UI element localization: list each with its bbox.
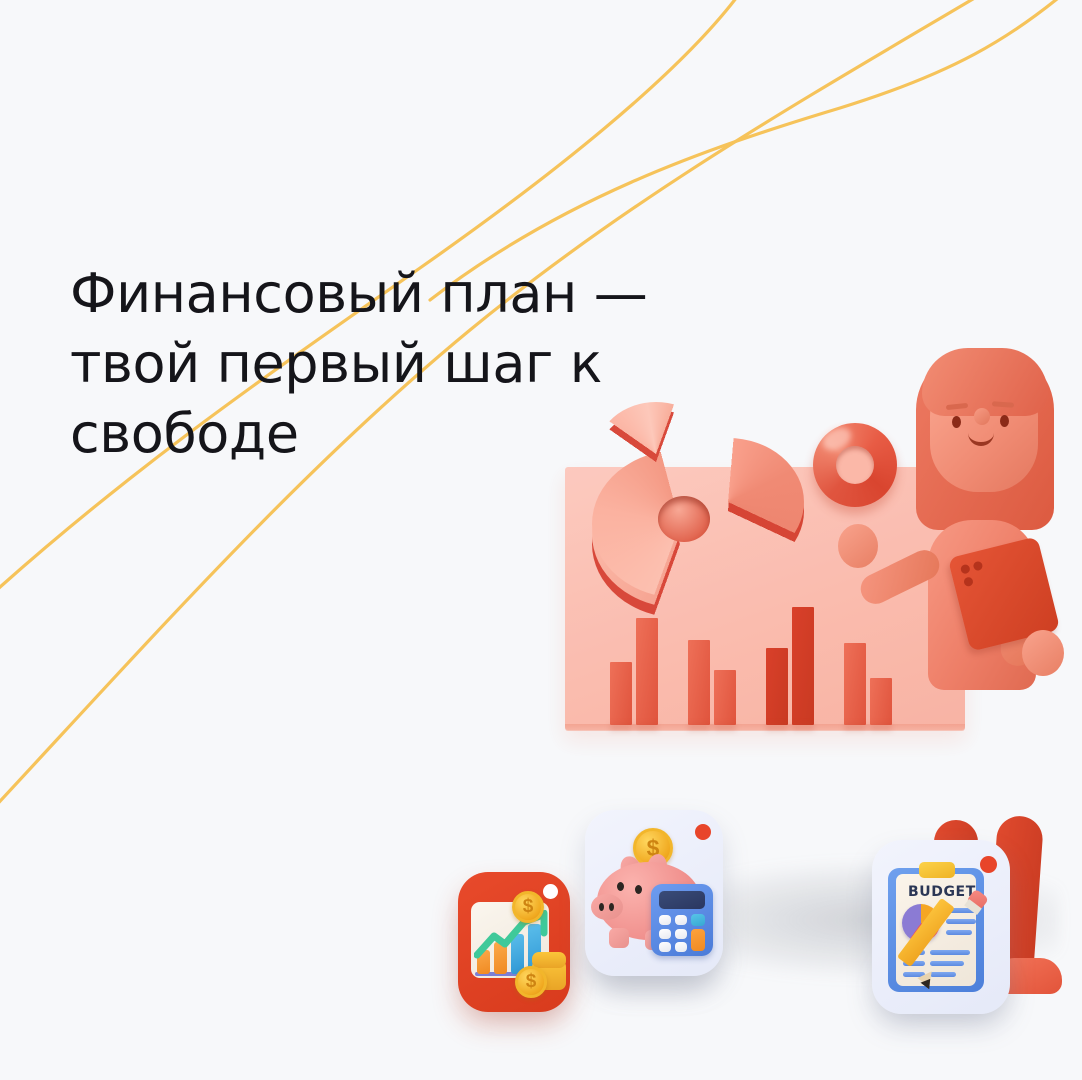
bar-8	[870, 678, 892, 725]
eye-right	[1000, 415, 1009, 427]
bar-2	[636, 618, 658, 725]
tablet-camera-3	[963, 576, 974, 587]
hand-left	[838, 524, 878, 568]
coin-symbol-1: $	[515, 894, 541, 920]
calculator-display	[659, 891, 705, 909]
poster-canvas: Финансовый план — твой первый шаг к своб…	[0, 0, 1082, 1080]
piggy-eye-right	[635, 885, 642, 894]
tablet-camera-1	[960, 564, 971, 575]
piggy-leg-1	[609, 928, 629, 948]
pie-center-hole	[658, 496, 710, 542]
bar-6	[792, 607, 814, 725]
hero-illustration: $ $ $	[0, 0, 1082, 1080]
text-line-2	[946, 919, 976, 924]
calc-key-3	[659, 929, 671, 939]
text-line-3	[946, 930, 972, 935]
hand-right	[1022, 630, 1064, 676]
bar-7	[844, 643, 866, 725]
eye-left	[952, 416, 961, 428]
budget-clipboard-icon-card[interactable]: BUDGET	[872, 840, 1010, 1014]
bar-1	[610, 662, 632, 725]
bar-chart-3d	[610, 600, 900, 725]
gold-coin-top: $	[512, 891, 544, 923]
piggy-nostril-2	[609, 903, 614, 911]
calc-key-4	[675, 929, 687, 939]
calc-key-6	[675, 942, 687, 952]
piggy-eye-left	[617, 882, 624, 891]
calculator-icon	[651, 884, 713, 956]
bar-5	[766, 648, 788, 725]
calc-key-1	[659, 915, 671, 925]
card-badge-dot	[695, 824, 711, 840]
calc-key-orange	[691, 929, 705, 951]
coin-stack-2	[532, 952, 566, 968]
bar-4	[714, 670, 736, 725]
bar-3	[688, 640, 710, 725]
hair-fringe	[922, 348, 1048, 416]
card-badge-dot	[980, 856, 997, 873]
text-line-9	[930, 972, 956, 977]
tablet-camera-2	[972, 561, 983, 572]
text-line-5	[930, 950, 970, 955]
piggy-snout	[591, 894, 623, 920]
nose	[974, 408, 990, 425]
text-line-7	[930, 961, 964, 966]
gold-coin-bottom: $	[515, 966, 547, 998]
piggy-bank-icon-card[interactable]: $	[585, 810, 723, 976]
coin-symbol-2: $	[518, 969, 544, 995]
card-badge-dot	[543, 884, 558, 899]
calc-key-5	[659, 942, 671, 952]
growth-chart-icon-card[interactable]: $ $	[458, 872, 570, 1012]
clipboard-clip	[919, 862, 955, 878]
pie-wedge-c	[596, 402, 716, 506]
piggy-nostril-1	[599, 903, 604, 911]
calc-key-2	[675, 915, 687, 925]
calc-key-cyan	[691, 914, 705, 926]
